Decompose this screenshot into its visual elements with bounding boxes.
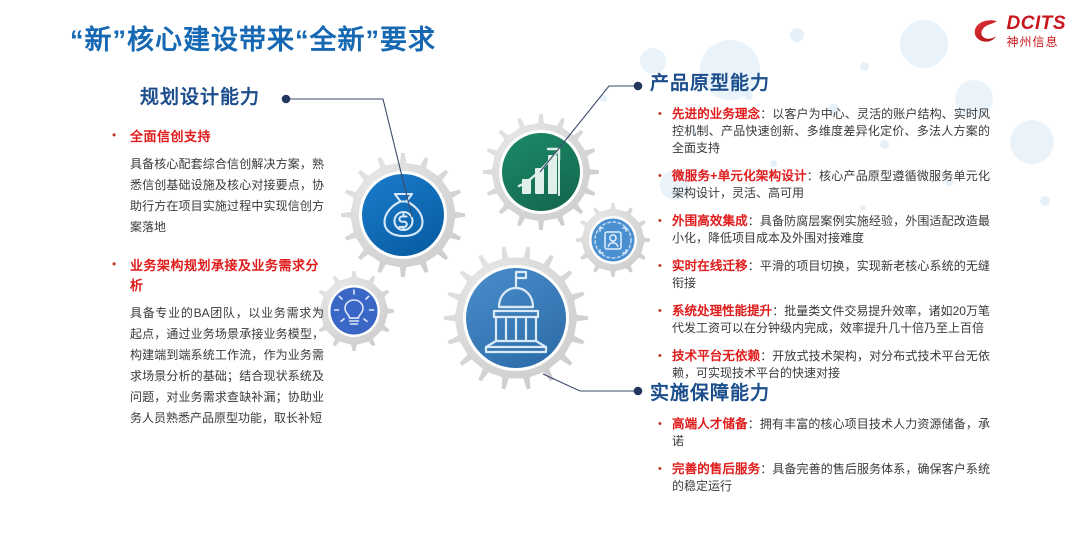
rt-bullet-1-sep: ： [760,107,772,121]
bullet-marker: • [650,168,672,202]
left-column: 规划设计能力 • 全面信创支持 具备核心配套综合信创解决方案，熟悉信创基础设施及… [112,82,324,429]
bullet-marker: • [112,127,130,238]
connector-prototype [540,86,637,172]
right-bottom-column: 实施保障能力 • 高端人才储备：拥有丰富的核心项目技术人力资源储备，承诺 • 完… [650,378,990,495]
left-column-heading: 规划设计能力 [112,82,324,109]
bullet-marker: • [112,256,130,429]
rt-bullet-4: • 实时在线迁移：平滑的项目切换，实现新老核心系统的无缝衔接 [650,258,990,292]
connector-delivery [543,374,637,391]
bullet-marker: • [650,416,672,450]
rt-bullet-2-key: 微服务+单元化架构设计 [672,169,807,183]
rt-bullet-6: • 技术平台无依赖：开放式技术架构，对分布式技术平台无依赖，可实现技术平台的快速… [650,348,990,382]
rb-bullet-1: • 高端人才储备：拥有丰富的核心项目技术人力资源储备，承诺 [650,416,990,450]
rb-bullet-2-sep: ： [760,462,772,476]
rt-bullet-1: • 先进的业务理念：以客户为中心、灵活的账户结构、实时风控机制、产品快速创新、多… [650,106,990,157]
rt-bullet-5-sep: ： [772,304,784,318]
rt-bullet-3-key: 外围高效集成 [672,214,748,228]
bullet-marker: • [650,258,672,292]
rb-bullet-1-key: 高端人才储备 [672,417,748,431]
rb-bullet-2: • 完善的售后服务：具备完善的售后服务体系，确保客户系统的稳定运行 [650,461,990,495]
right-top-heading: 产品原型能力 [650,68,990,95]
left-bullet-1-title: 全面信创支持 [130,127,324,147]
rt-bullet-4-sep: ： [748,259,760,273]
rb-bullet-1-sep: ： [748,417,760,431]
left-bullet-1-text: 具备核心配套综合信创解决方案，熟悉信创基础设施及核心对接要点，协助行方在项目实施… [130,154,324,238]
bullet-marker: • [650,461,672,495]
rt-bullet-4-key: 实时在线迁移 [672,259,748,273]
bullet-marker: • [650,106,672,157]
rt-bullet-5: • 系统处理性能提升：批量类文件交易提升效率，诸如20万笔代发工资可以在分钟级内… [650,303,990,337]
rt-bullet-3: • 外围高效集成：具备防腐层案例实施经验，外围适配改造最小化，降低项目成本及外围… [650,213,990,247]
right-top-column: 产品原型能力 • 先进的业务理念：以客户为中心、灵活的账户结构、实时风控机制、产… [650,68,990,382]
rt-bullet-6-key: 技术平台无依赖 [672,349,760,363]
left-bullet-2: • 业务架构规划承接及业务需求分析 具备专业的BA团队，以业务需求为起点，通过业… [112,256,324,429]
bullet-marker: • [650,348,672,382]
rt-bullet-3-sep: ： [748,214,760,228]
rt-bullet-2: • 微服务+单元化架构设计：核心产品原型遵循微服务单元化架构设计，灵活、高可用 [650,168,990,202]
rt-bullet-2-sep: ： [807,169,819,183]
rb-bullet-2-key: 完善的售后服务 [672,462,760,476]
bullet-marker: • [650,303,672,337]
right-bottom-heading: 实施保障能力 [650,378,990,405]
connector-dot-delivery [634,387,643,396]
slide-canvas: “新”核心建设带来“全新”要求 DCITS 神州信息 [0,0,1080,540]
rt-bullet-5-key: 系统处理性能提升 [672,304,772,318]
left-bullet-1: • 全面信创支持 具备核心配套综合信创解决方案，熟悉信创基础设施及核心对接要点，… [112,127,324,238]
left-bullet-2-title: 业务架构规划承接及业务需求分析 [130,256,324,296]
bullet-marker: • [650,213,672,247]
rt-bullet-1-key: 先进的业务理念 [672,107,760,121]
left-bullet-2-text: 具备专业的BA团队，以业务需求为起点，通过业务场景承接业务模型，构建端到端系统工… [130,303,324,429]
connector-dot-prototype [634,82,643,91]
rt-bullet-6-sep: ： [760,349,772,363]
